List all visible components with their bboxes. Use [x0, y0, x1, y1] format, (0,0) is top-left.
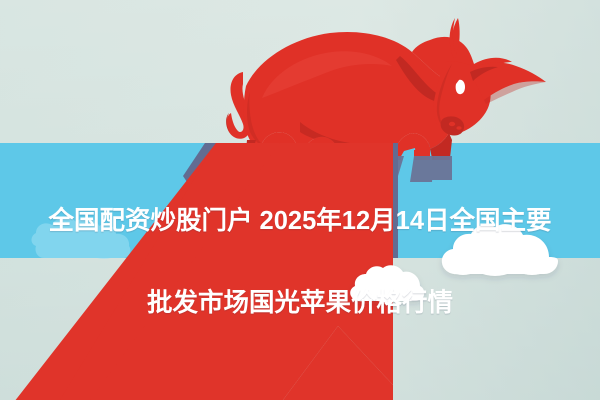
- banner-image: 全国配资炒股门户 2025年12月14日全国主要 批发市场国光苹果价格行情: [0, 0, 600, 400]
- banner-artwork: [0, 0, 600, 400]
